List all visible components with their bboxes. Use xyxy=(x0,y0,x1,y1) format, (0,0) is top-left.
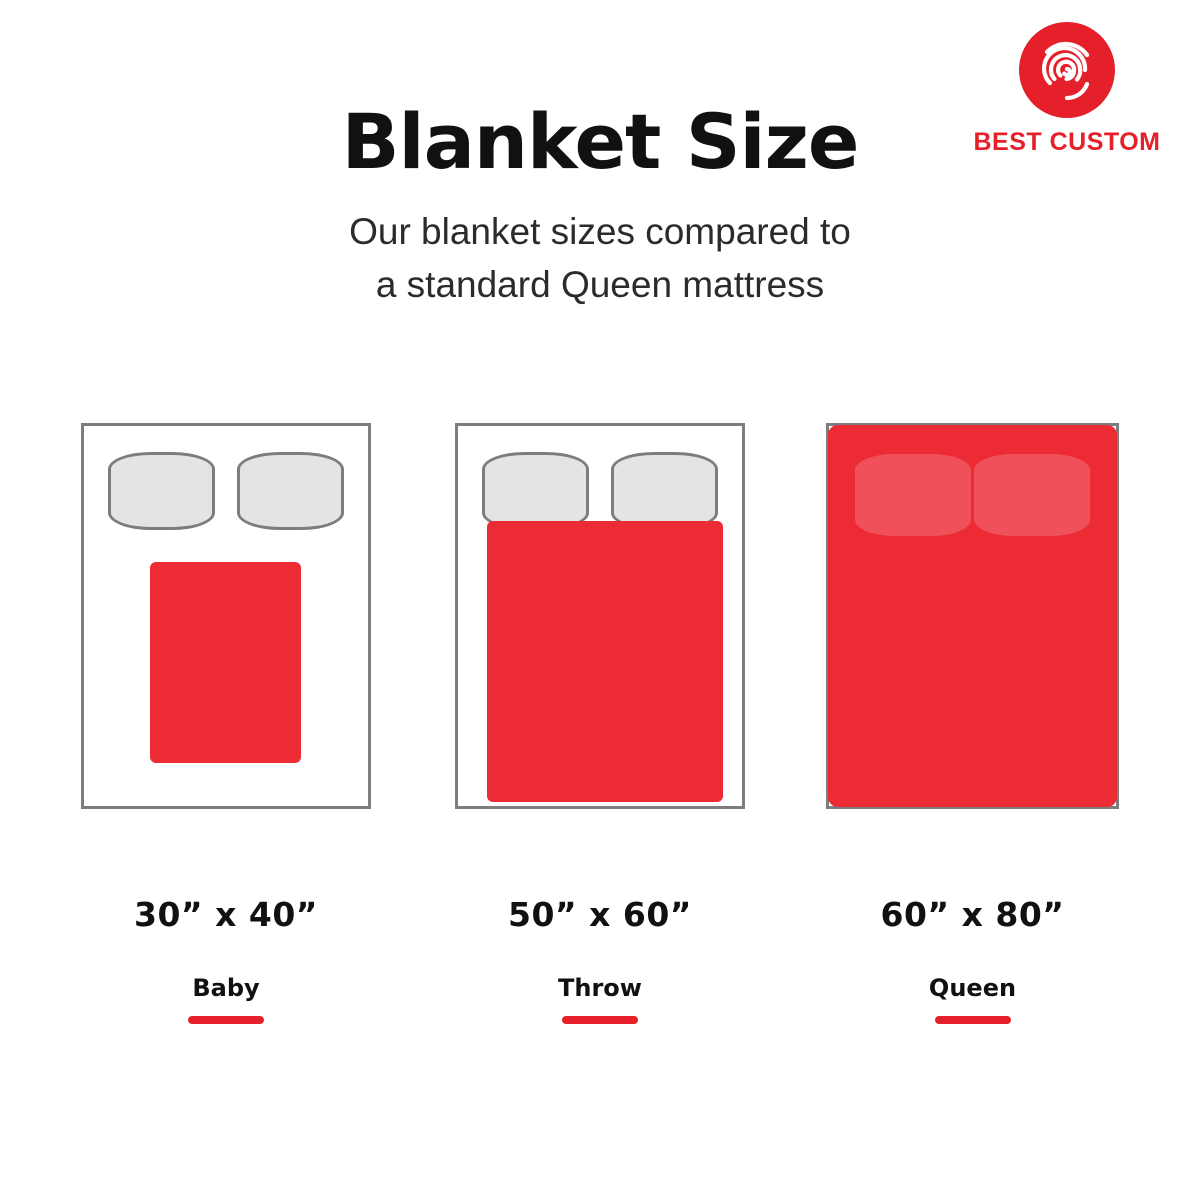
accent-underline xyxy=(562,1016,638,1024)
blanket-swatch-baby xyxy=(150,562,301,763)
size-dimensions: 30” x 40” xyxy=(81,895,371,934)
accent-underline xyxy=(188,1016,264,1024)
page-title: Blanket Size xyxy=(0,104,1200,180)
bed-diagram-queen xyxy=(826,423,1119,809)
pillow-left-icon xyxy=(482,452,589,530)
pillow-left-icon xyxy=(108,452,215,530)
caption-queen: 60” x 80” Queen xyxy=(826,895,1119,1024)
caption-baby: 30” x 40” Baby xyxy=(81,895,371,1024)
page-subtitle: Our blanket sizes compared to a standard… xyxy=(0,206,1200,311)
header: Blanket Size Our blanket sizes compared … xyxy=(0,104,1200,311)
size-name: Queen xyxy=(826,974,1119,1002)
pillow-right-icon xyxy=(974,454,1090,536)
subtitle-line-2: a standard Queen mattress xyxy=(0,259,1200,312)
blanket-swatch-throw xyxy=(487,521,723,802)
size-name: Baby xyxy=(81,974,371,1002)
size-dimensions: 60” x 80” xyxy=(826,895,1119,934)
bed-diagram-baby xyxy=(81,423,371,809)
caption-throw: 50” x 60” Throw xyxy=(455,895,745,1024)
size-dimensions: 50” x 60” xyxy=(455,895,745,934)
size-name: Throw xyxy=(455,974,745,1002)
pillow-right-icon xyxy=(237,452,344,530)
bed-captions: 30” x 40” Baby 50” x 60” Throw 60” x 80”… xyxy=(0,895,1200,1055)
bed-comparison-diagrams xyxy=(0,423,1200,813)
accent-underline xyxy=(935,1016,1011,1024)
pillow-right-icon xyxy=(611,452,718,530)
pillow-left-icon xyxy=(855,454,971,536)
subtitle-line-1: Our blanket sizes compared to xyxy=(0,206,1200,259)
bed-diagram-throw xyxy=(455,423,745,809)
